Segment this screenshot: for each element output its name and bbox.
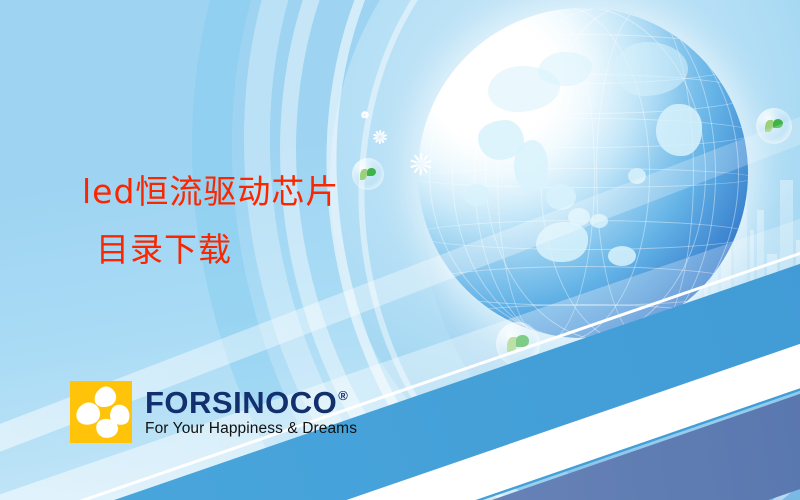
- registered-trademark-icon: ®: [338, 389, 348, 402]
- bubble-green-sprout-1: [352, 158, 384, 190]
- globe-landmass-11: [464, 184, 490, 206]
- sparkle-flower-1: [373, 130, 387, 144]
- globe-landmass-3: [514, 140, 548, 192]
- globe-landmass-10: [608, 246, 636, 266]
- wordmark-text: FORSINOCO: [145, 387, 337, 418]
- headline-line-1: led恒流驱动芯片: [82, 172, 339, 211]
- headline-line-2: 目录下载: [82, 221, 339, 279]
- four-petal-pinwheel-icon: [70, 381, 132, 443]
- sparkle-flower-2: [410, 153, 432, 175]
- globe-landmass-9: [656, 104, 702, 156]
- brand-logo[interactable]: FORSINOCO ® For Your Happiness & Dreams: [70, 381, 357, 443]
- promo-banner: led恒流驱动芯片 目录下载 FORSINOCO ® For Your Happ…: [0, 0, 800, 500]
- sparkle-flower-3: [361, 111, 368, 118]
- logo-tagline: For Your Happiness & Dreams: [145, 420, 357, 438]
- page-title: led恒流驱动芯片 目录下载: [82, 163, 339, 279]
- wordmark: FORSINOCO ®: [145, 387, 357, 418]
- logo-text-block: FORSINOCO ® For Your Happiness & Dreams: [145, 387, 357, 438]
